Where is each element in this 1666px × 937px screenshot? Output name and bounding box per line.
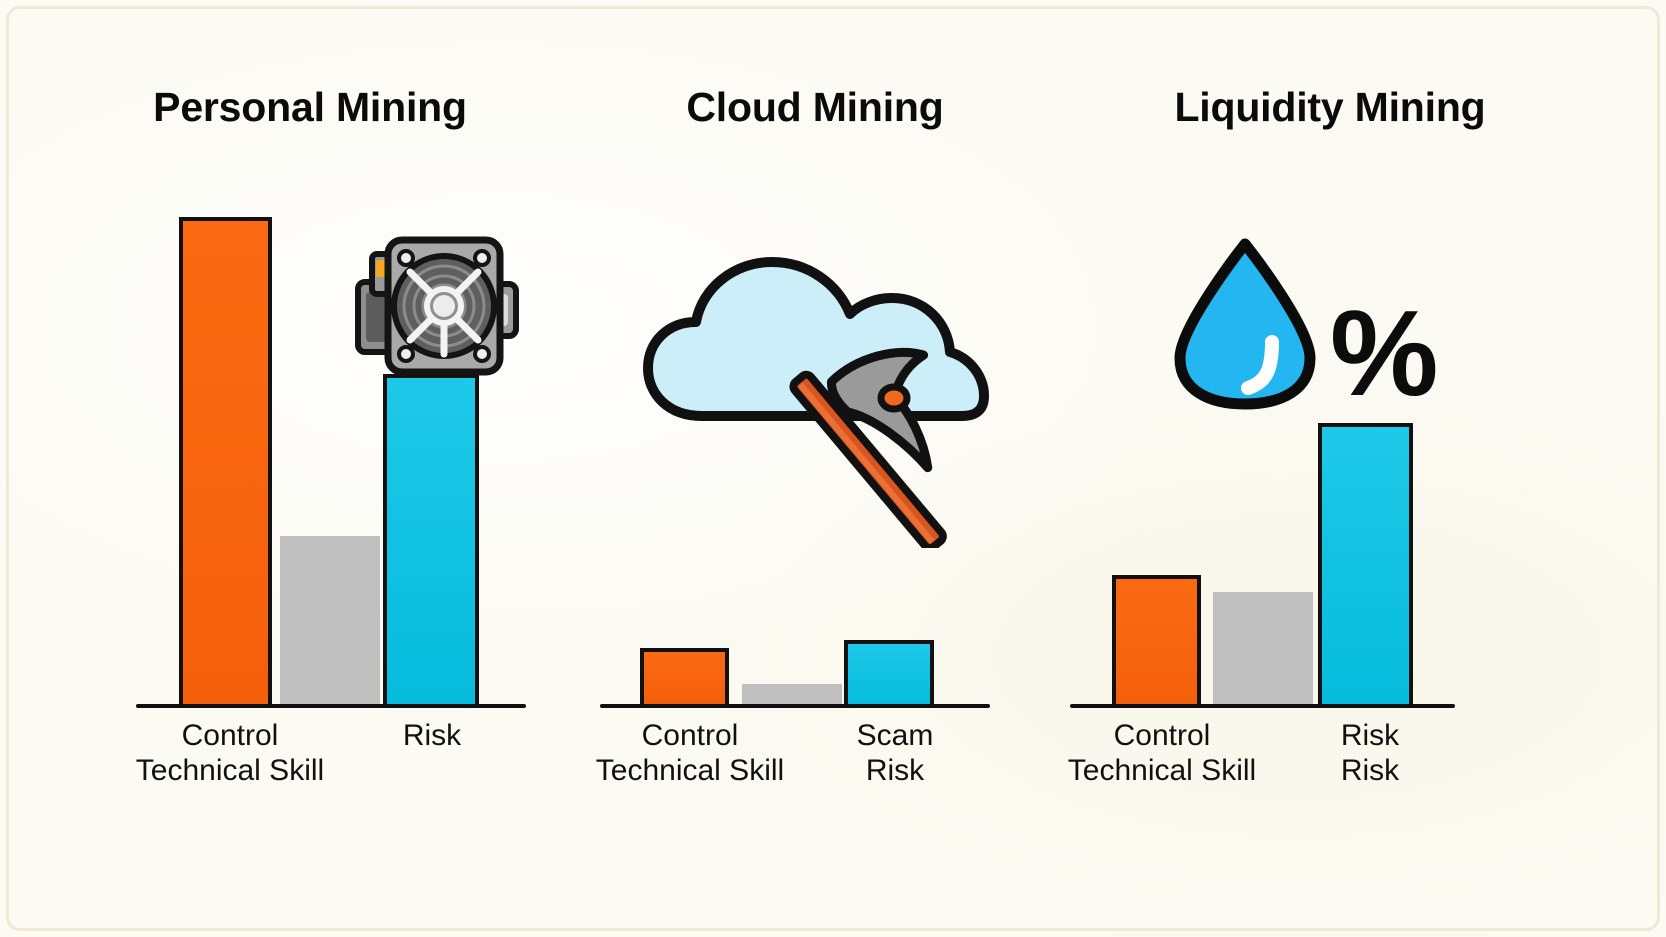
tick-label-cloud-left: Control Technical Skill [560,718,820,788]
axis-baseline-liquidity [1070,704,1455,708]
tick-label-personal-right: Risk [352,718,512,753]
tick-label-liquidity-right: Risk Risk [1295,718,1445,788]
water-droplet-icon [1150,230,1340,415]
tick-label-liquidity-left-line1: Control [1114,719,1211,752]
tick-label-personal-left: Control Technical Skill [100,718,360,788]
bar-personal-control [179,217,272,708]
tick-label-personal-left-line2: Technical Skill [100,753,360,788]
panel-title-liquidity-mining: Liquidity Mining [1050,84,1610,131]
panel-liquidity-mining: Liquidity Mining % Control Technical Ski… [1050,0,1610,937]
bar-liquidity-risk [1318,423,1413,708]
bar-cloud-scam-risk [844,640,934,708]
tick-label-cloud-left-line2: Technical Skill [560,753,820,788]
panel-cloud-mining: Cloud Mining Contr [580,0,1050,937]
bar-cloud-control [640,648,729,708]
percent-symbol: % [1330,292,1438,414]
axis-baseline-cloud [600,704,990,708]
bar-personal-risk [383,374,479,708]
tick-label-liquidity-left: Control Technical Skill [1032,718,1292,788]
panel-personal-mining: Personal Mining [40,0,580,937]
panel-title-cloud-mining: Cloud Mining [580,84,1050,131]
panel-title-personal-mining: Personal Mining [40,84,580,131]
tick-label-personal-right-line1: Risk [403,719,461,752]
tick-label-liquidity-left-line2: Technical Skill [1032,753,1292,788]
tick-label-cloud-right-line2: Risk [810,753,980,788]
tick-label-cloud-right-line1: Scam [857,719,934,752]
tick-label-cloud-left-line1: Control [642,719,739,752]
bar-personal-technical-skill [280,536,380,706]
cloud-mining-illustration [610,218,1000,548]
mining-rig-icon [342,232,522,382]
tick-label-personal-left-line1: Control [182,719,279,752]
infographic-canvas: Personal Mining [0,0,1666,937]
tick-label-liquidity-right-line1: Risk [1341,719,1399,752]
bar-cloud-technical-skill [742,684,842,706]
bar-liquidity-technical-skill [1213,592,1313,706]
tick-label-liquidity-right-line2: Risk [1295,753,1445,788]
axis-baseline-personal [136,704,526,708]
bar-liquidity-control [1112,575,1201,708]
tick-label-cloud-right: Scam Risk [810,718,980,788]
